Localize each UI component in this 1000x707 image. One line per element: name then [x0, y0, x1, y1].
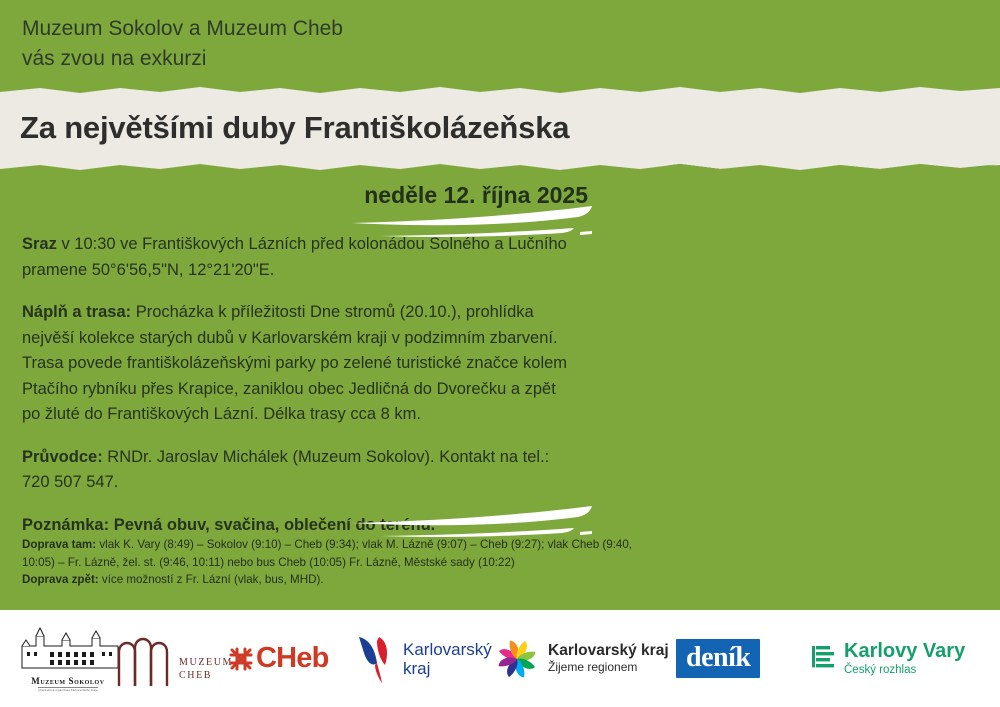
logo-cesky-rozhlas-karlovy-vary[interactable]: Karlovy Vary Český rozhlas: [812, 610, 998, 707]
logo-kraj-flag-line1: Karlovarský: [403, 640, 492, 659]
text-doprava-zpet: více možností z Fr. Lázní (vlak, bus, MH…: [99, 573, 324, 586]
logo-cheb-city[interactable]: CHeb: [228, 610, 348, 707]
logo-rozhlas-line1: Karlovy Vary: [844, 640, 965, 663]
logo-strip: Muzeum Sokolov příspěvková organizace Ka…: [0, 610, 1000, 707]
swoosh-decoration-icon: [350, 505, 594, 539]
page-title: Za největšími duby Františkolázeňska: [20, 110, 660, 146]
label-pruvodce: Průvodce:: [22, 448, 103, 466]
label-doprava-tam: Doprava tam:: [22, 538, 96, 551]
logo-cheb-line1: MUZEUM: [179, 656, 233, 669]
logo-muzeum-sokolov[interactable]: Muzeum Sokolov příspěvková organizace Ka…: [8, 610, 128, 707]
castle-icon: [14, 626, 122, 675]
text-doprava-tam: vlak K. Vary (8:49) – Sokolov (9:10) – C…: [22, 538, 632, 569]
paragraph-guide: Průvodce: RNDr. Jaroslav Michálek (Muzeu…: [22, 445, 578, 496]
logo-muzeum-cheb[interactable]: MUZEUM CHEB: [115, 610, 235, 707]
body-text: Sraz v 10:30 ve Františkových Lázních př…: [22, 232, 578, 538]
label-sraz: Sraz: [22, 235, 57, 253]
kraj-flag-icon: [355, 633, 399, 685]
radio-waves-icon: [812, 644, 838, 674]
logo-rozhlas-text: Karlovy Vary Český rozhlas: [844, 640, 965, 677]
logo-kraj-pinwheel-line1: Karlovarský kraj: [548, 642, 669, 660]
logo-sokolov-subtitle: příspěvková organizace Karlovarského kra…: [38, 687, 97, 692]
logo-denik[interactable]: deník: [676, 610, 806, 707]
cheb-lattice-icon: [228, 646, 254, 672]
denik-box: deník: [676, 639, 760, 678]
logo-rozhlas-line2: Český rozhlas: [844, 663, 965, 677]
paragraph-meeting: Sraz v 10:30 ve Františkových Lázních př…: [22, 232, 578, 283]
logo-karlovarsky-kraj-flag[interactable]: Karlovarský kraj: [355, 610, 495, 707]
logo-karlovarsky-kraj-pinwheel[interactable]: Karlovarský kraj Žijeme regionem: [492, 610, 682, 707]
logo-sokolov-name: Muzeum Sokolov: [31, 676, 105, 686]
text-sraz: v 10:30 ve Františkových Lázních před ko…: [22, 235, 567, 279]
logo-cheb-text: MUZEUM CHEB: [179, 656, 233, 682]
pinwheel-icon: [492, 634, 542, 684]
transport-there: Doprava tam: vlak K. Vary (8:49) – Sokol…: [22, 536, 634, 571]
invitation-line-1: Muzeum Sokolov a Muzeum Cheb: [22, 14, 542, 44]
logo-cheb-line2: CHEB: [179, 669, 233, 682]
logo-cheb-city-text: CHeb: [256, 642, 329, 675]
transport-info: Doprava tam: vlak K. Vary (8:49) – Sokol…: [22, 536, 634, 589]
transport-back: Doprava zpět: více možností z Fr. Lázní …: [22, 571, 634, 589]
label-naplne: Náplň a trasa:: [22, 303, 131, 321]
poster: Muzeum Sokolov a Muzeum Cheb vás zvou na…: [0, 0, 1000, 707]
logo-kraj-flag-text: Karlovarský kraj: [403, 640, 492, 678]
invitation-line-2: vás zvou na exkurzi: [22, 44, 542, 74]
label-doprava-zpet: Doprava zpět:: [22, 573, 99, 586]
logo-kraj-pinwheel-text: Karlovarský kraj Žijeme regionem: [548, 642, 669, 675]
invitation-text: Muzeum Sokolov a Muzeum Cheb vás zvou na…: [22, 14, 542, 74]
logo-denik-text: deník: [686, 643, 750, 673]
paragraph-route: Náplň a trasa: Procházka k příležitosti …: [22, 300, 578, 428]
logo-kraj-pinwheel-line2: Žijeme regionem: [548, 660, 669, 675]
gothic-arches-icon: [115, 630, 175, 688]
text-naplne: Procházka k příležitosti Dne stromů (20.…: [22, 303, 567, 423]
logo-kraj-flag-line2: kraj: [403, 659, 492, 678]
